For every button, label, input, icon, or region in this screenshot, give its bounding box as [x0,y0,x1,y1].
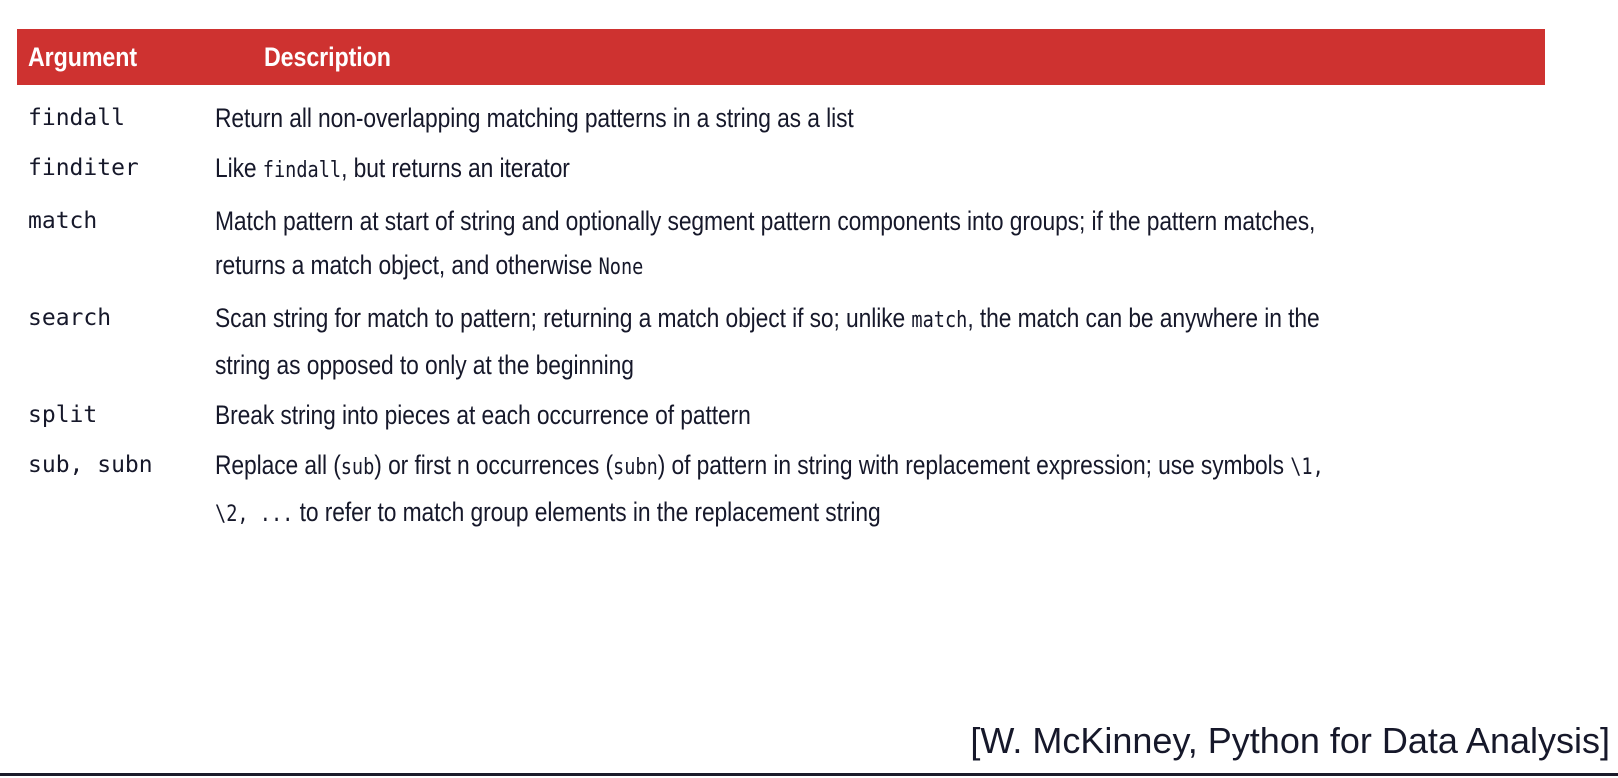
column-header-argument: Argument [28,42,231,73]
table-row: findallReturn all non-overlapping matchi… [17,93,1545,143]
inline-code: match [911,308,967,333]
cell-description: Break string into pieces at each occurre… [215,393,1339,437]
source-attribution: [W. McKinney, Python for Data Analysis] [970,720,1610,762]
cell-argument: finditer [17,146,215,190]
description-text: ) or first n occurrences ( [374,450,613,480]
bottom-rule-divider [0,773,1618,776]
table-row: sub, subnReplace all (sub) or first n oc… [17,440,1545,540]
column-header-description: Description [264,42,1366,73]
description-text: , but returns an iterator [341,153,570,183]
cell-argument: findall [17,96,215,140]
inline-code: subn [613,455,658,480]
cell-argument: sub, subn [17,443,215,487]
inline-code: findall [263,158,341,183]
description-text: Replace all ( [215,450,341,480]
description-text: Like [215,153,263,183]
inline-code: None [599,255,644,280]
cell-argument: split [17,393,215,437]
cell-description: Return all non-overlapping matching patt… [215,96,1339,140]
table-body: findallReturn all non-overlapping matchi… [17,85,1545,540]
table-row: splitBreak string into pieces at each oc… [17,390,1545,440]
cell-argument: match [17,199,215,243]
description-text: ) of pattern in string with replacement … [658,450,1290,480]
inline-code: sub [341,455,375,480]
cell-description: Match pattern at start of string and opt… [215,199,1339,290]
description-text: Break string into pieces at each occurre… [215,400,751,430]
table-row: finditerLike findall, but returns an ite… [17,143,1545,196]
cell-description: Replace all (sub) or first n occurrences… [215,443,1339,537]
cell-description: Scan string for match to pattern; return… [215,296,1339,387]
table-row: matchMatch pattern at start of string an… [17,196,1545,293]
cell-argument: search [17,296,215,340]
description-text: Scan string for match to pattern; return… [215,303,911,333]
description-text: Match pattern at start of string and opt… [215,206,1315,280]
table-header-row: Argument Description [17,29,1545,85]
description-text: Return all non-overlapping matching patt… [215,103,854,133]
table-row: searchScan string for match to pattern; … [17,293,1545,390]
cell-description: Like findall, but returns an iterator [215,146,1339,193]
regex-methods-table: Argument Description findallReturn all n… [17,29,1545,540]
description-text: to refer to match group elements in the … [293,497,880,527]
